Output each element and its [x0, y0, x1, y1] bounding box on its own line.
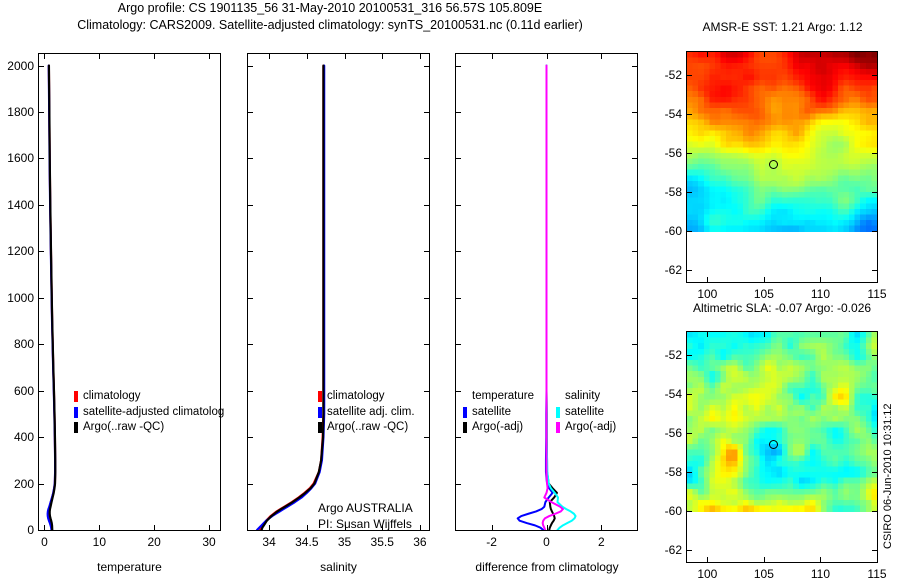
x-tick-mark — [154, 54, 155, 59]
legend-label: satellite — [565, 405, 604, 421]
x-tick-label: -2 — [486, 535, 497, 549]
x-tick-mark — [345, 54, 346, 59]
longitude-tick-mark — [877, 557, 878, 562]
x-tick-mark — [420, 54, 421, 59]
y-tick-mark — [456, 251, 461, 252]
difference-plot-panel — [455, 53, 638, 531]
y-tick-mark — [39, 391, 44, 392]
x-tick-mark — [382, 525, 383, 530]
latitude-tick-mark — [687, 153, 692, 154]
legend-column-title: temperature — [472, 389, 534, 405]
x-tick-mark — [269, 54, 270, 59]
y-tick-mark — [632, 344, 637, 345]
x-tick-mark — [547, 54, 548, 59]
legend-color-swatch — [74, 407, 78, 418]
longitude-tick-label: 105 — [754, 567, 774, 581]
y-tick-mark — [424, 158, 429, 159]
y-tick-mark — [248, 530, 253, 531]
longitude-tick-label: 115 — [867, 287, 886, 301]
latitude-tick-label: -56 — [652, 426, 682, 440]
longitude-tick-label: 105 — [754, 287, 774, 301]
y-tick-mark — [248, 391, 253, 392]
temperature-plot-panel — [38, 53, 221, 531]
y-tick-mark — [248, 66, 253, 67]
y-tick-mark — [248, 298, 253, 299]
credit-line-1: Argo AUSTRALIA — [318, 500, 413, 516]
y-tick-mark — [632, 530, 637, 531]
salinity-legend: climatologysatellite adj. clim.Argo(..ra… — [318, 389, 415, 436]
legend-color-swatch — [463, 422, 467, 433]
y-tick-mark — [424, 530, 429, 531]
legend-label: climatology — [327, 389, 385, 405]
y-tick-mark — [632, 205, 637, 206]
legend-item: climatology — [74, 389, 224, 405]
longitude-tick-mark — [707, 277, 708, 282]
legend-label: Argo(..raw -QC) — [327, 420, 408, 436]
x-tick-mark — [99, 525, 100, 530]
sst-heatmap — [687, 52, 877, 282]
x-tick-label: 36 — [413, 535, 426, 549]
latitude-tick-mark — [687, 114, 692, 115]
temperature-legend: climatologysatellite-adjusted climatolog… — [74, 389, 224, 436]
x-tick-mark — [269, 525, 270, 530]
x-tick-label: 0 — [41, 535, 48, 549]
y-tick-mark — [39, 66, 44, 67]
latitude-tick-mark — [687, 550, 692, 551]
y-tick-mark — [632, 112, 637, 113]
longitude-tick-mark — [764, 332, 765, 337]
y-tick-mark — [456, 530, 461, 531]
y-tick-mark — [424, 298, 429, 299]
latitude-tick-mark — [687, 511, 692, 512]
x-tick-mark — [99, 54, 100, 59]
longitude-tick-label: 110 — [811, 567, 830, 581]
legend-label: satellite — [472, 405, 511, 421]
y-tick-mark — [39, 530, 44, 531]
sla-map-title: Altimetric SLA: -0.07 Argo: -0.026 — [672, 301, 892, 315]
profile-location-marker — [769, 440, 778, 449]
legend-color-swatch — [74, 422, 78, 433]
legend-color-swatch — [318, 422, 322, 433]
sla-heatmap — [687, 332, 877, 562]
y-tick-mark — [39, 437, 44, 438]
legend-item: climatology — [318, 389, 415, 405]
y-tick-mark — [632, 391, 637, 392]
depth-tick-label: 200 — [0, 477, 34, 491]
depth-tick-label: 1800 — [0, 105, 34, 119]
x-tick-label: 34 — [262, 535, 275, 549]
latitude-tick-mark — [872, 511, 877, 512]
legend-item: satellite — [556, 405, 616, 421]
x-tick-label: 35.5 — [371, 535, 394, 549]
latitude-tick-mark — [687, 231, 692, 232]
figure-title: Argo profile: CS 1901135_56 31-May-2010 … — [0, 0, 660, 34]
y-tick-mark — [456, 298, 461, 299]
x-tick-label: 35 — [338, 535, 351, 549]
y-tick-mark — [456, 205, 461, 206]
y-tick-mark — [632, 251, 637, 252]
salinity-plot-panel — [247, 53, 430, 531]
latitude-tick-mark — [687, 433, 692, 434]
longitude-tick-mark — [820, 332, 821, 337]
x-tick-label: 0 — [543, 535, 550, 549]
legend-column: salinitysatelliteArgo(-adj) — [556, 389, 616, 436]
legend-label: Argo(..raw -QC) — [83, 420, 164, 436]
longitude-tick-mark — [877, 332, 878, 337]
y-tick-mark — [456, 158, 461, 159]
y-tick-mark — [424, 66, 429, 67]
latitude-tick-mark — [872, 394, 877, 395]
longitude-tick-mark — [707, 557, 708, 562]
latitude-tick-label: -54 — [652, 107, 682, 121]
latitude-tick-label: -60 — [652, 224, 682, 238]
longitude-tick-mark — [764, 277, 765, 282]
x-tick-mark — [44, 54, 45, 59]
x-tick-mark — [44, 525, 45, 530]
legend-item: satellite-adjusted climatolog — [74, 405, 224, 421]
latitude-tick-label: -52 — [652, 68, 682, 82]
legend-label: Argo(-adj) — [565, 420, 616, 436]
longitude-tick-mark — [820, 52, 821, 57]
latitude-tick-label: -54 — [652, 387, 682, 401]
x-tick-mark — [307, 525, 308, 530]
latitude-tick-label: -62 — [652, 543, 682, 557]
x-tick-mark — [420, 525, 421, 530]
x-tick-mark — [307, 54, 308, 59]
legend-item: satellite adj. clim. — [318, 405, 415, 421]
longitude-tick-mark — [877, 277, 878, 282]
profile-location-marker — [769, 160, 778, 169]
y-tick-mark — [39, 298, 44, 299]
latitude-tick-label: -58 — [652, 185, 682, 199]
x-tick-mark — [209, 54, 210, 59]
y-tick-mark — [632, 437, 637, 438]
y-tick-mark — [248, 437, 253, 438]
sst-map-panel — [686, 51, 878, 283]
x-tick-label: 34.5 — [295, 535, 318, 549]
x-tick-mark — [382, 54, 383, 59]
x-tick-mark — [601, 525, 602, 530]
y-tick-mark — [424, 344, 429, 345]
latitude-tick-mark — [872, 355, 877, 356]
longitude-tick-label: 100 — [697, 287, 717, 301]
credit-block: Argo AUSTRALIA PI: Susan Wijffels — [318, 500, 413, 532]
x-tick-label: 2 — [598, 535, 605, 549]
latitude-tick-mark — [687, 75, 692, 76]
latitude-tick-mark — [872, 231, 877, 232]
y-tick-mark — [456, 391, 461, 392]
x-tick-mark — [601, 54, 602, 59]
latitude-tick-mark — [687, 192, 692, 193]
longitude-tick-mark — [820, 557, 821, 562]
y-tick-mark — [248, 112, 253, 113]
latitude-tick-label: -60 — [652, 504, 682, 518]
legend-color-swatch — [74, 391, 78, 402]
y-tick-mark — [39, 484, 44, 485]
y-tick-mark — [424, 437, 429, 438]
y-tick-mark — [424, 251, 429, 252]
depth-tick-label: 600 — [0, 384, 34, 398]
y-tick-mark — [632, 298, 637, 299]
longitude-tick-mark — [820, 277, 821, 282]
y-tick-mark — [248, 158, 253, 159]
longitude-tick-mark — [764, 52, 765, 57]
y-tick-mark — [456, 112, 461, 113]
x-tick-label: 20 — [147, 535, 160, 549]
temperature-axis-label: temperature — [38, 560, 221, 574]
difference-axis-label: difference from climatology — [437, 560, 657, 574]
longitude-tick-label: 115 — [867, 567, 886, 581]
x-tick-label: 30 — [202, 535, 215, 549]
latitude-tick-mark — [872, 75, 877, 76]
legend-color-swatch — [556, 407, 560, 418]
latitude-tick-mark — [687, 270, 692, 271]
legend-item: Argo(..raw -QC) — [74, 420, 224, 436]
latitude-tick-mark — [872, 472, 877, 473]
depth-tick-label: 1000 — [0, 291, 34, 305]
depth-tick-label: 800 — [0, 337, 34, 351]
depth-tick-label: 1600 — [0, 151, 34, 165]
y-tick-mark — [248, 251, 253, 252]
x-tick-mark — [492, 54, 493, 59]
depth-tick-label: 1200 — [0, 244, 34, 258]
y-tick-mark — [424, 205, 429, 206]
latitude-tick-mark — [687, 394, 692, 395]
x-tick-mark — [154, 525, 155, 530]
title-line-1: Argo profile: CS 1901135_56 31-May-2010 … — [0, 0, 660, 17]
latitude-tick-mark — [687, 472, 692, 473]
depth-tick-label: 400 — [0, 430, 34, 444]
x-tick-mark — [492, 525, 493, 530]
latitude-tick-mark — [872, 433, 877, 434]
y-tick-mark — [456, 437, 461, 438]
y-tick-mark — [632, 66, 637, 67]
longitude-tick-mark — [764, 557, 765, 562]
sla-map-panel — [686, 331, 878, 563]
x-tick-mark — [345, 525, 346, 530]
sst-map-title: AMSR-E SST: 1.21 Argo: 1.12 — [680, 20, 885, 34]
legend-label: climatology — [83, 389, 141, 405]
legend-label: satellite-adjusted climatolog — [83, 405, 224, 421]
latitude-tick-label: -56 — [652, 146, 682, 160]
latitude-tick-mark — [872, 153, 877, 154]
legend-column-title: salinity — [565, 389, 616, 405]
legend-color-swatch — [318, 407, 322, 418]
y-tick-mark — [39, 112, 44, 113]
y-tick-mark — [248, 205, 253, 206]
legend-column: temperaturesatelliteArgo(-adj) — [463, 389, 534, 436]
y-tick-mark — [456, 344, 461, 345]
legend-item: Argo(-adj) — [463, 420, 534, 436]
legend-color-swatch — [556, 422, 560, 433]
difference-curves — [456, 54, 637, 530]
credit-line-2: PI: Susan Wijffels — [318, 516, 413, 532]
y-tick-mark — [424, 112, 429, 113]
longitude-tick-mark — [707, 52, 708, 57]
latitude-tick-label: -52 — [652, 348, 682, 362]
latitude-tick-mark — [872, 114, 877, 115]
y-tick-mark — [456, 66, 461, 67]
x-tick-mark — [547, 525, 548, 530]
y-tick-mark — [39, 251, 44, 252]
depth-tick-label: 1400 — [0, 198, 34, 212]
y-tick-mark — [424, 391, 429, 392]
legend-label: satellite adj. clim. — [327, 405, 415, 421]
salinity-curves — [248, 54, 429, 530]
y-tick-mark — [39, 205, 44, 206]
difference-legend: temperaturesatelliteArgo(-adj)salinitysa… — [463, 389, 616, 436]
latitude-tick-mark — [872, 550, 877, 551]
x-tick-mark — [209, 525, 210, 530]
longitude-tick-label: 110 — [811, 287, 830, 301]
latitude-tick-label: -62 — [652, 263, 682, 277]
legend-color-swatch — [318, 391, 322, 402]
y-tick-mark — [632, 158, 637, 159]
y-tick-mark — [39, 158, 44, 159]
latitude-tick-mark — [687, 355, 692, 356]
legend-item: Argo(..raw -QC) — [318, 420, 415, 436]
legend-color-swatch — [463, 407, 467, 418]
longitude-tick-mark — [877, 52, 878, 57]
y-tick-mark — [39, 344, 44, 345]
latitude-tick-mark — [872, 270, 877, 271]
csiro-timestamp: CSIRO 06-Jun-2010 10:31:12 — [882, 403, 894, 549]
title-line-2: Climatology: CARS2009. Satellite-adjuste… — [0, 17, 660, 34]
latitude-tick-mark — [872, 192, 877, 193]
y-tick-mark — [456, 484, 461, 485]
y-tick-mark — [632, 484, 637, 485]
y-tick-mark — [424, 484, 429, 485]
legend-item: satellite — [463, 405, 534, 421]
temperature-curves — [39, 54, 220, 530]
longitude-tick-mark — [707, 332, 708, 337]
legend-label: Argo(-adj) — [472, 420, 523, 436]
legend-item: Argo(-adj) — [556, 420, 616, 436]
y-tick-mark — [248, 344, 253, 345]
longitude-tick-label: 100 — [697, 567, 717, 581]
x-tick-label: 10 — [93, 535, 106, 549]
salinity-axis-label: salinity — [247, 560, 430, 574]
y-tick-mark — [248, 484, 253, 485]
depth-tick-label: 2000 — [0, 59, 34, 73]
depth-tick-label: 0 — [0, 523, 34, 537]
latitude-tick-label: -58 — [652, 465, 682, 479]
